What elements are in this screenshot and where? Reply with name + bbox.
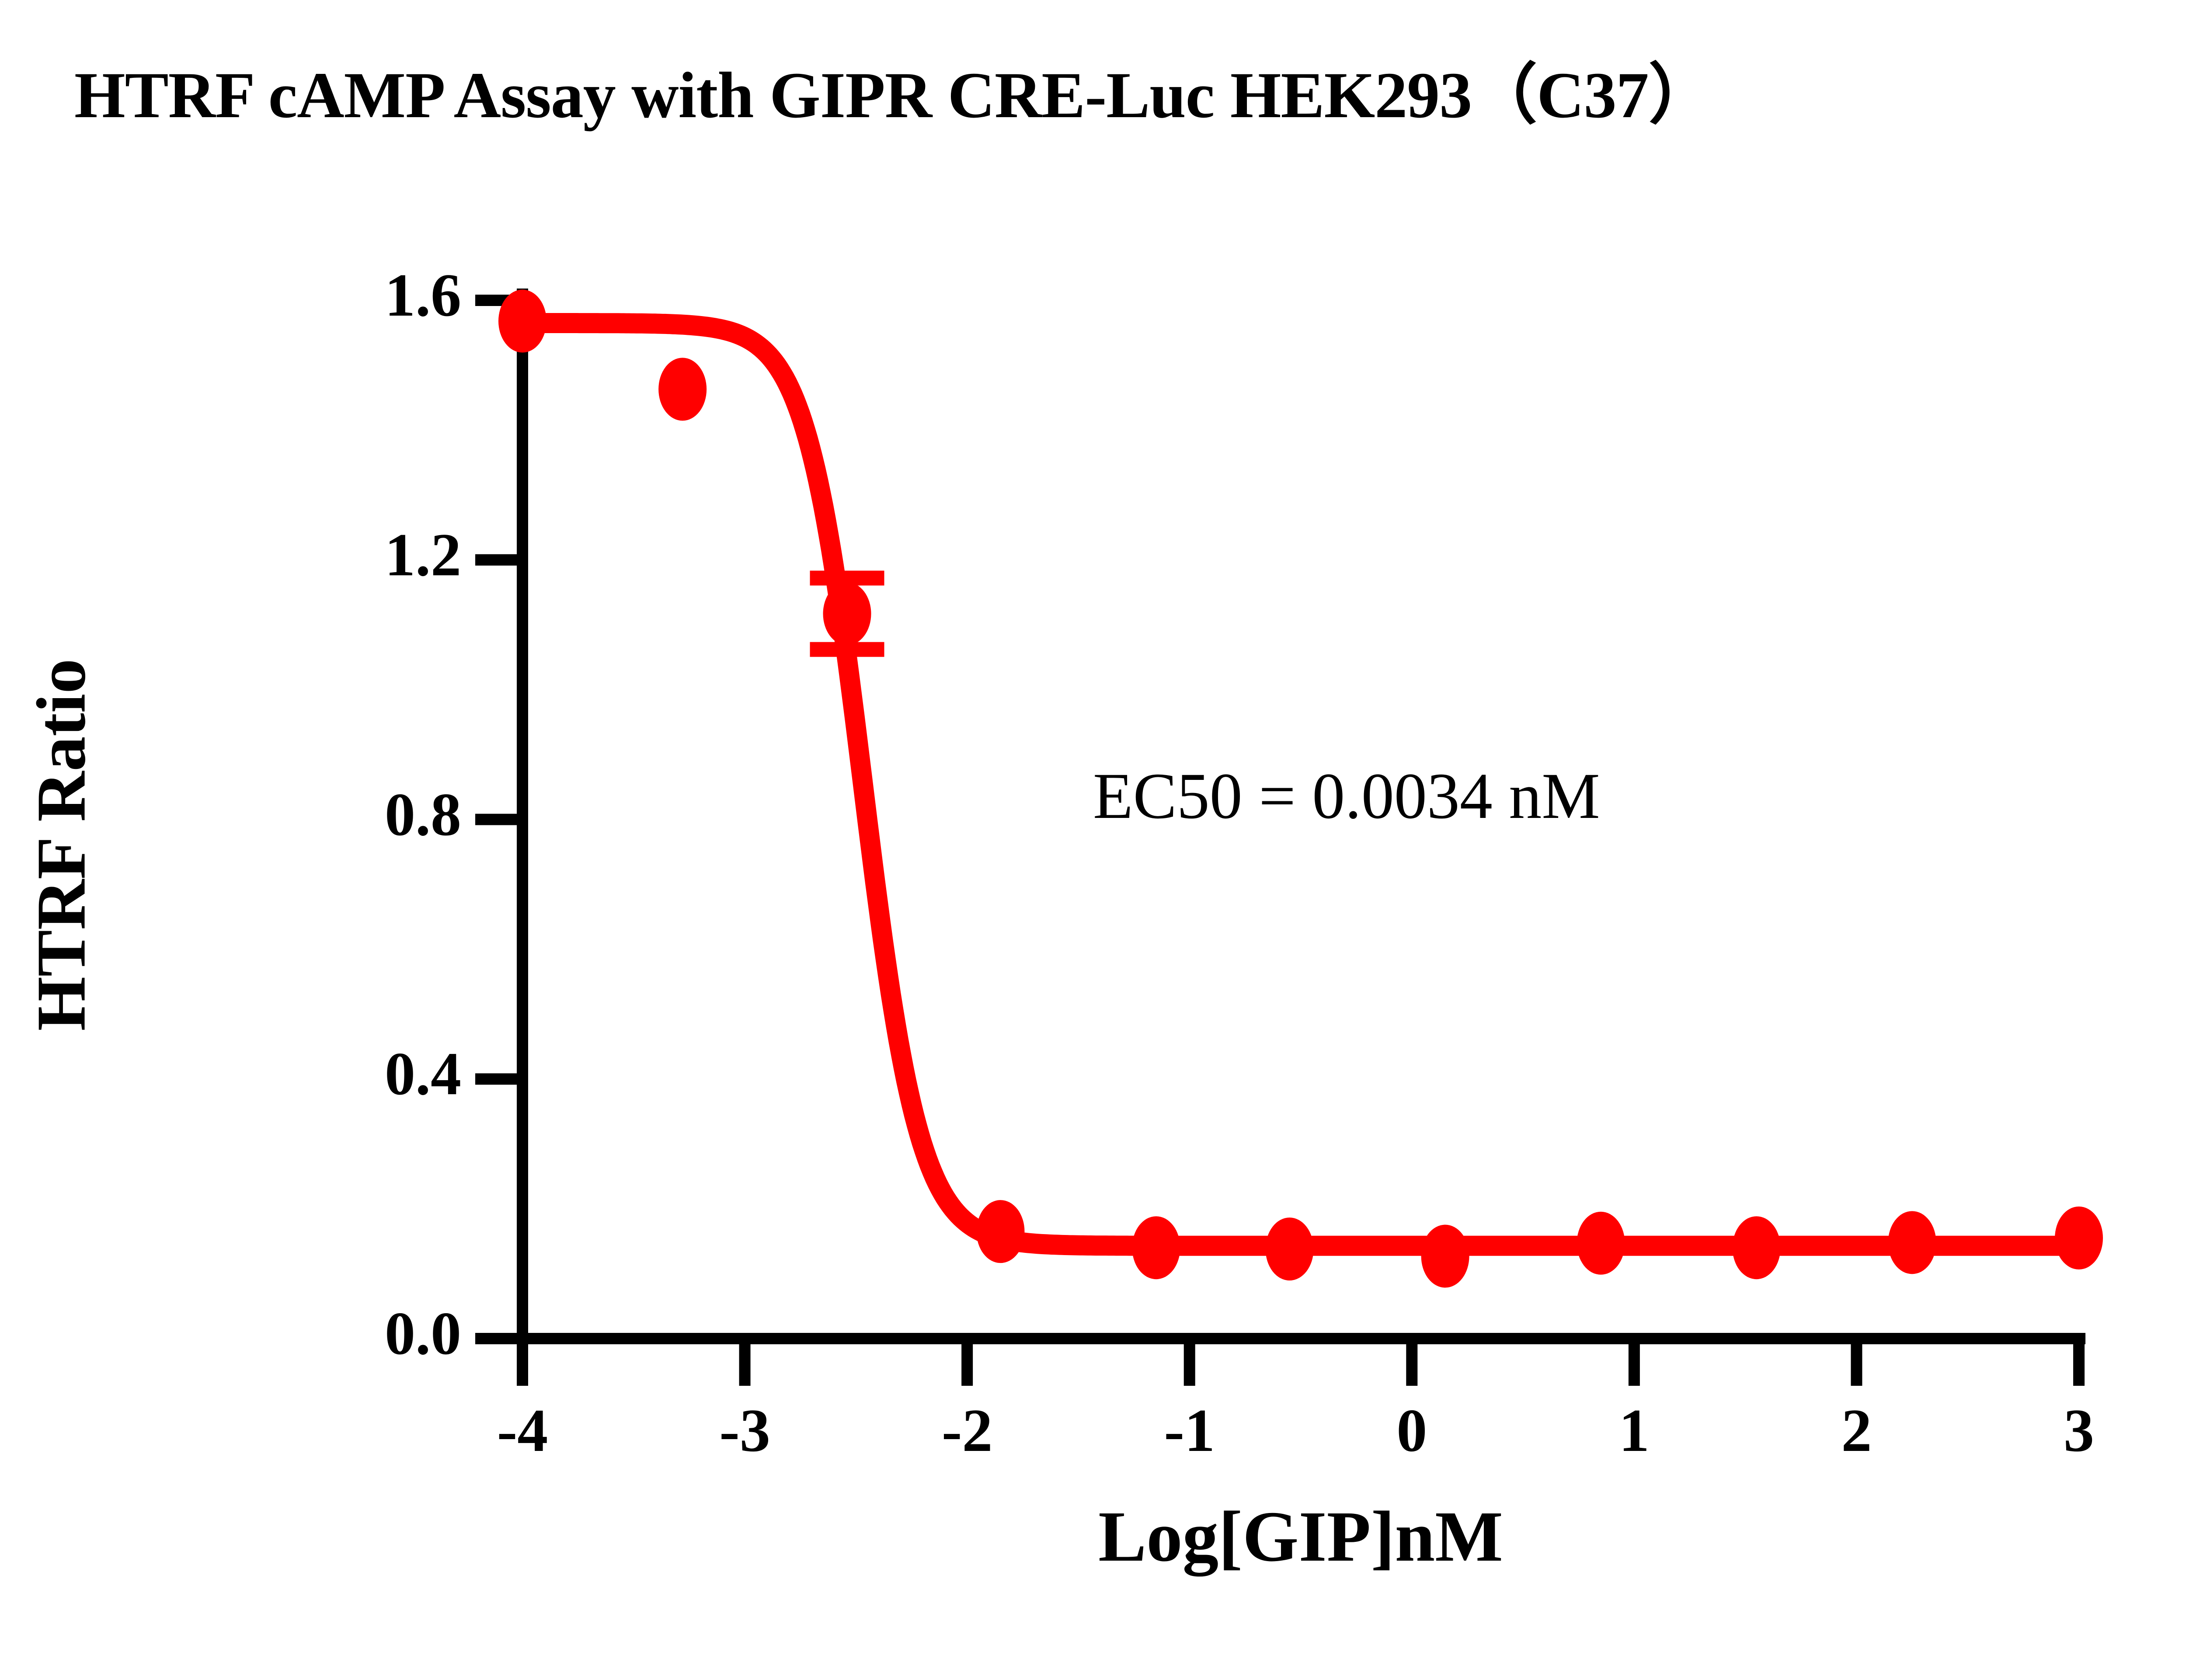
x-tick-label: 1 [1547, 1395, 1722, 1466]
data-point-marker [1132, 1216, 1180, 1279]
y-tick-label: 0.0 [129, 1298, 461, 1369]
y-tick-label: 1.2 [129, 520, 461, 590]
data-point-marker [658, 358, 707, 421]
y-axis-title: HTRF Ratio [21, 539, 102, 1151]
data-point-marker [1421, 1224, 1469, 1287]
x-tick-label: -4 [435, 1395, 610, 1466]
y-tick-label: 0.8 [129, 779, 461, 850]
x-tick-label: -3 [658, 1395, 832, 1466]
x-tick-label: -1 [1102, 1395, 1277, 1466]
plot-area: HTRF Ratio Log[GIP]nM EC50 = 0.0034 nM 0… [0, 0, 2186, 1678]
data-point-marker [976, 1200, 1024, 1263]
chart-page: HTRF cAMP Assay with GIPR CRE-Luc HEK293… [0, 0, 2186, 1678]
data-point-marker [498, 290, 546, 353]
ec50-annotation: EC50 = 0.0034 nM [1093, 758, 1600, 834]
y-axis-ticks [475, 300, 522, 1339]
x-tick-label: -2 [880, 1395, 1055, 1466]
data-point-marker [1577, 1212, 1625, 1275]
x-axis-title: Log[GIP]nM [522, 1495, 2079, 1578]
y-tick-label: 1.6 [129, 260, 461, 330]
y-tick-label: 0.4 [129, 1039, 461, 1109]
data-point-marker [823, 582, 871, 645]
x-tick-label: 3 [1991, 1395, 2166, 1466]
x-tick-label: 2 [1769, 1395, 1944, 1466]
x-tick-label: 0 [1324, 1395, 1499, 1466]
x-axis-ticks [522, 1339, 2079, 1386]
data-point-marker [2055, 1207, 2103, 1270]
data-point-marker [1888, 1211, 1936, 1274]
data-point-marker [1733, 1216, 1781, 1279]
data-point-marker [1266, 1217, 1314, 1280]
